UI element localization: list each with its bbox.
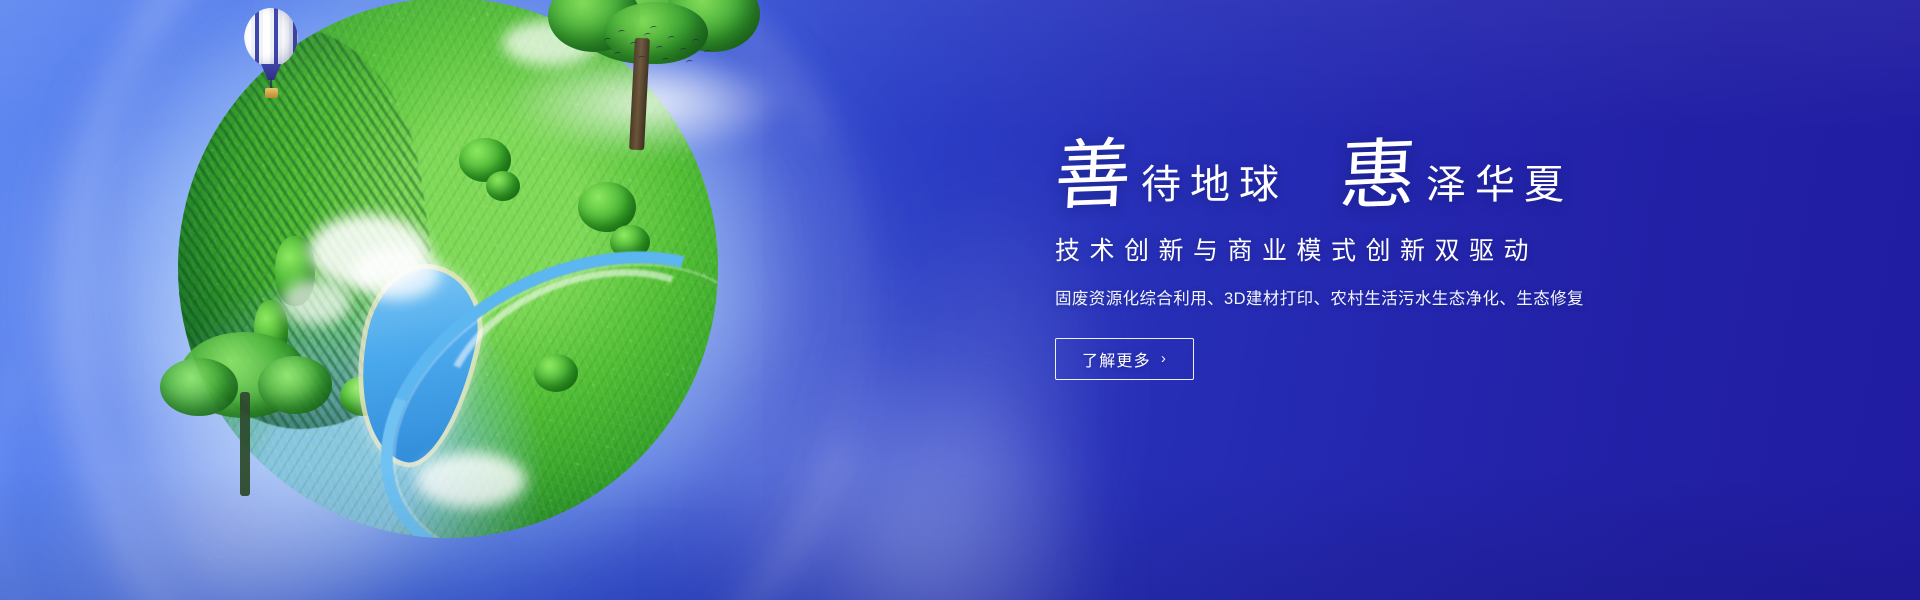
cloud-icon [351,246,441,300]
hero-banner: 善 待地球 惠 泽华夏 技术创新与商业模式创新双驱动 固废资源化综合利用、3D建… [0,0,1920,600]
headline-group-1: 善 待地球 [1055,140,1288,210]
globe-illustration [148,0,748,578]
bush-icon [486,171,520,201]
cloud-icon [416,452,526,508]
description: 固废资源化综合利用、3D建材打印、农村生活污水生态净化、生态修复 [1055,287,1755,312]
learn-more-label: 了解更多 [1082,347,1151,371]
chevron-right-icon: › [1161,351,1167,366]
hot-air-balloon-icon [244,8,298,100]
headline-group-2: 惠 泽华夏 [1340,140,1573,210]
headline-char-large: 惠 [1338,139,1422,212]
learn-more-button[interactable]: 了解更多 › [1055,338,1194,380]
bush-icon [578,182,636,232]
headline-char-large: 善 [1053,139,1137,212]
headline-chars-small: 待地球 [1135,165,1288,210]
subtitle: 技术创新与商业模式创新双驱动 [1055,236,1755,267]
hero-copy-block: 善 待地球 惠 泽华夏 技术创新与商业模式创新双驱动 固废资源化综合利用、3D建… [1055,140,1755,380]
page-title: 善 待地球 惠 泽华夏 [1055,140,1755,210]
hero-tree-icon [548,0,758,152]
headline-chars-small: 泽华夏 [1420,165,1573,210]
bird-flock-icon [600,26,720,70]
foreground-tree-icon [154,318,334,498]
